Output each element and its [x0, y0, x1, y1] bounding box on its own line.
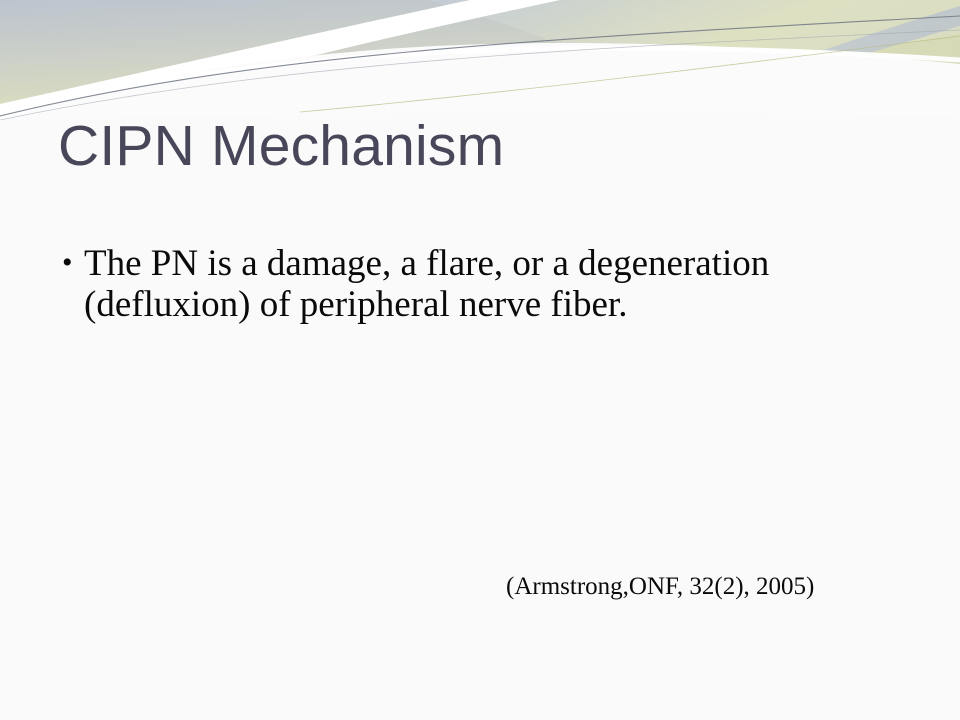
bullet-item-text: The PN is a damage, a flare, or a degene… — [84, 243, 769, 325]
bullet-point-icon: • — [62, 243, 82, 284]
flow-wave-header-decoration — [0, 0, 960, 120]
list-item: • The PN is a damage, a flare, or a dege… — [56, 243, 856, 326]
body-bullet-list: • The PN is a damage, a flare, or a dege… — [56, 243, 856, 326]
presentation-slide: CIPN Mechanism • The PN is a damage, a f… — [0, 0, 960, 720]
page-title: CIPN Mechanism — [58, 116, 918, 178]
source-citation: (Armstrong,ONF, 32(2), 2005) — [506, 572, 814, 602]
